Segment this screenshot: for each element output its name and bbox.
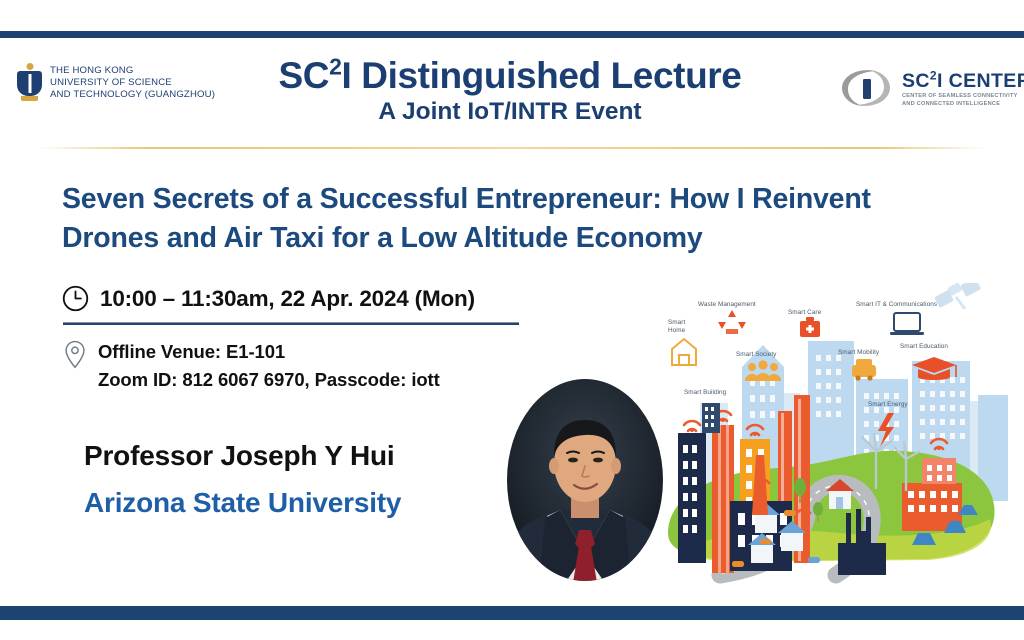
satellite-icon	[934, 283, 981, 309]
venue-zoom: Zoom ID: 812 6067 6970, Passcode: iott	[98, 366, 440, 394]
speaker-portrait	[505, 378, 665, 583]
hkust-emblem-icon	[16, 63, 43, 103]
recycle-icon	[718, 310, 746, 334]
sc2i-logo-text: SC2I CENTER CENTER OF SEAMLESS CONNECTIV…	[902, 68, 1024, 108]
lecture-title: Seven Secrets of a Successful Entreprene…	[62, 180, 962, 258]
sc2i-tagline-2: AND CONNECTED INTELLIGENCE	[902, 101, 1024, 108]
poster-title-post: I Distinguished Lecture	[342, 55, 742, 96]
laptop-icon	[890, 313, 924, 335]
label-smart-mobility: Smart Mobility	[838, 349, 879, 357]
bottom-navy-rule	[0, 606, 1024, 620]
lecture-title-line-1: Seven Secrets of a Successful Entreprene…	[62, 180, 962, 219]
sc2i-name-pre: SC	[902, 70, 930, 92]
transport-icon	[852, 359, 876, 381]
label-smart-it-communications: Smart IT & Communications	[856, 301, 937, 309]
poster-title-superscript: 2	[329, 54, 341, 80]
venue-lines: Offline Venue: E1-101 Zoom ID: 812 6067 …	[98, 336, 440, 394]
event-time-text: 10:00 – 11:30am, 22 Apr. 2024 (Mon)	[100, 286, 475, 312]
label-smart-education: Smart Education	[900, 343, 948, 351]
poster-title-pre: SC	[279, 55, 330, 96]
smart-home-icon	[672, 339, 696, 365]
label-smart-society: Smart Society	[736, 351, 776, 359]
venue-offline: Offline Venue: E1-101	[98, 338, 440, 366]
top-navy-rule	[0, 31, 1024, 38]
sc2i-tagline-1: CENTER OF SEAMLESS CONNECTIVITY	[902, 93, 1024, 100]
label-smart-care: Smart Care	[788, 309, 821, 317]
label-smart-energy: Smart Energy	[868, 401, 908, 409]
event-time-row: 10:00 – 11:30am, 22 Apr. 2024 (Mon)	[62, 285, 475, 312]
event-poster: THE HONG KONG UNIVERSITY OF SCIENCE AND …	[0, 0, 1024, 640]
lecture-title-line-2: Drones and Air Taxi for a Low Altitude E…	[62, 219, 962, 258]
sc2i-name-post: I CENTER	[937, 70, 1024, 92]
sc2i-center-logo: SC2I CENTER CENTER OF SEAMLESS CONNECTIV…	[838, 64, 1024, 112]
header-gold-divider	[36, 147, 988, 149]
office-building-icon	[702, 403, 720, 433]
medical-kit-icon	[800, 317, 820, 337]
poster-title: SC2I Distinguished Lecture	[190, 54, 830, 98]
sc2i-swirl-icon	[838, 64, 894, 112]
location-pin-icon	[63, 340, 87, 369]
sc2i-name-superscript: 2	[930, 69, 937, 83]
speaker-affiliation: Arizona State University	[84, 487, 401, 519]
label-smart-home: Smart Home	[668, 319, 702, 335]
clock-icon	[62, 285, 89, 312]
smart-city-illustration: Smart Home Waste Management Smart Care S…	[660, 283, 1022, 588]
event-venue-row: Offline Venue: E1-101 Zoom ID: 812 6067 …	[63, 336, 440, 394]
hkust-gz-logo: THE HONG KONG UNIVERSITY OF SCIENCE AND …	[16, 63, 215, 103]
label-smart-building: Smart Building	[684, 389, 726, 397]
poster-subtitle: A Joint IoT/INTR Event	[190, 97, 830, 127]
smart-city-graphic	[660, 283, 1022, 588]
label-waste-management: Waste Management	[698, 301, 756, 309]
speaker-name: Professor Joseph Y Hui	[84, 440, 394, 472]
time-underline	[63, 322, 519, 325]
header-title-block: SC2I Distinguished Lecture A Joint IoT/I…	[190, 54, 830, 127]
sc2i-logo-name: SC2I CENTER	[902, 70, 1024, 92]
